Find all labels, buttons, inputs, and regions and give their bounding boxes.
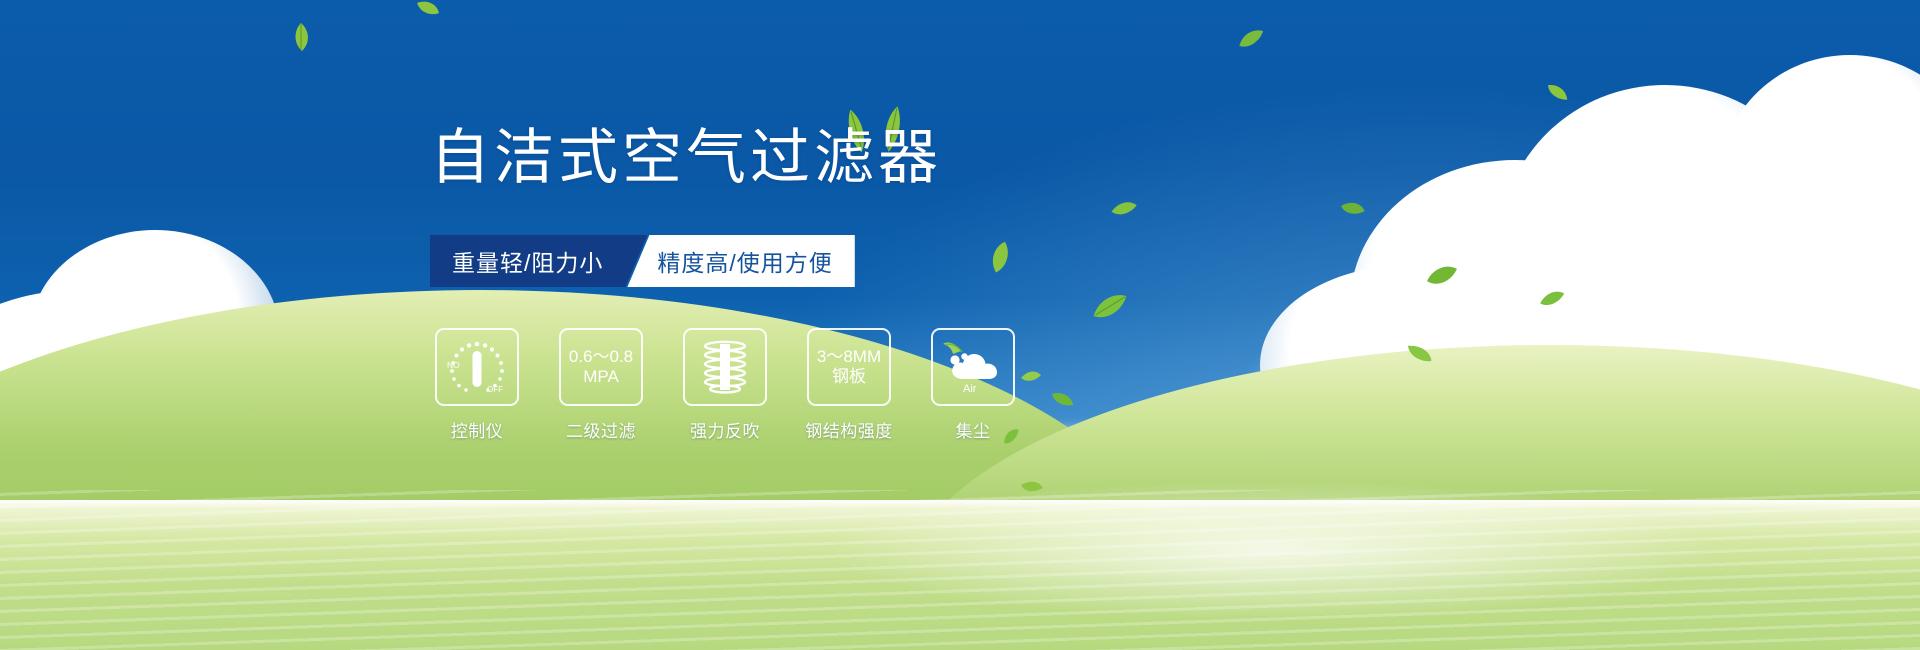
air-label: Air [963,383,977,395]
feature-label: 强力反吹 [690,417,760,442]
feature-icon-box: Air [931,328,1015,406]
gauge-dial-icon: NO OFF [444,337,510,397]
feature-icon-box [683,328,767,406]
feature-list: NO OFF 控制仪 0.6～0.8 MPA 二级过滤 [435,328,1015,442]
feature-label: 二级过滤 [566,417,636,442]
feature-label: 钢结构强度 [805,417,893,442]
steel-material: 钢板 [817,367,881,387]
svg-text:NO: NO [447,360,460,370]
tagline-tab-secondary[interactable]: 精度高/使用方便 [627,235,854,287]
feature-item[interactable]: NO OFF 控制仪 [435,328,519,442]
feature-label: 控制仪 [451,417,504,442]
feature-icon-box: 3～8MM 钢板 [807,328,891,406]
hero-banner: 自洁式空气过滤器 重量轻/阻力小 精度高/使用方便 [0,0,1920,650]
feature-icon-box: 0.6～0.8 MPA [559,328,643,406]
feature-item[interactable]: 3～8MM 钢板 钢结构强度 [807,328,891,442]
page-title: 自洁式空气过滤器 [430,128,942,188]
feature-label: 集尘 [956,417,991,442]
banner-content: 自洁式空气过滤器 重量轻/阻力小 精度高/使用方便 [0,0,1920,650]
feature-icon-box: NO OFF [435,328,519,406]
pressure-range: 0.6～0.8 [569,347,633,366]
steel-plate-text-icon: 3～8MM 钢板 [817,347,881,386]
filter-cartridge-icon [696,338,754,396]
feature-item[interactable]: 强力反吹 [683,328,767,442]
dust-cloud-icon: Air [941,339,1005,395]
svg-text:OFF: OFF [487,385,503,394]
pressure-unit: MPA [569,367,633,387]
feature-item[interactable]: Air 集尘 [931,328,1015,442]
feature-item[interactable]: 0.6～0.8 MPA 二级过滤 [559,328,643,442]
steel-thickness: 3～8MM [817,347,881,366]
tagline-tabs: 重量轻/阻力小 精度高/使用方便 [430,235,855,287]
tagline-tab-primary[interactable]: 重量轻/阻力小 [430,235,647,287]
pressure-text-icon: 0.6～0.8 MPA [569,347,633,386]
